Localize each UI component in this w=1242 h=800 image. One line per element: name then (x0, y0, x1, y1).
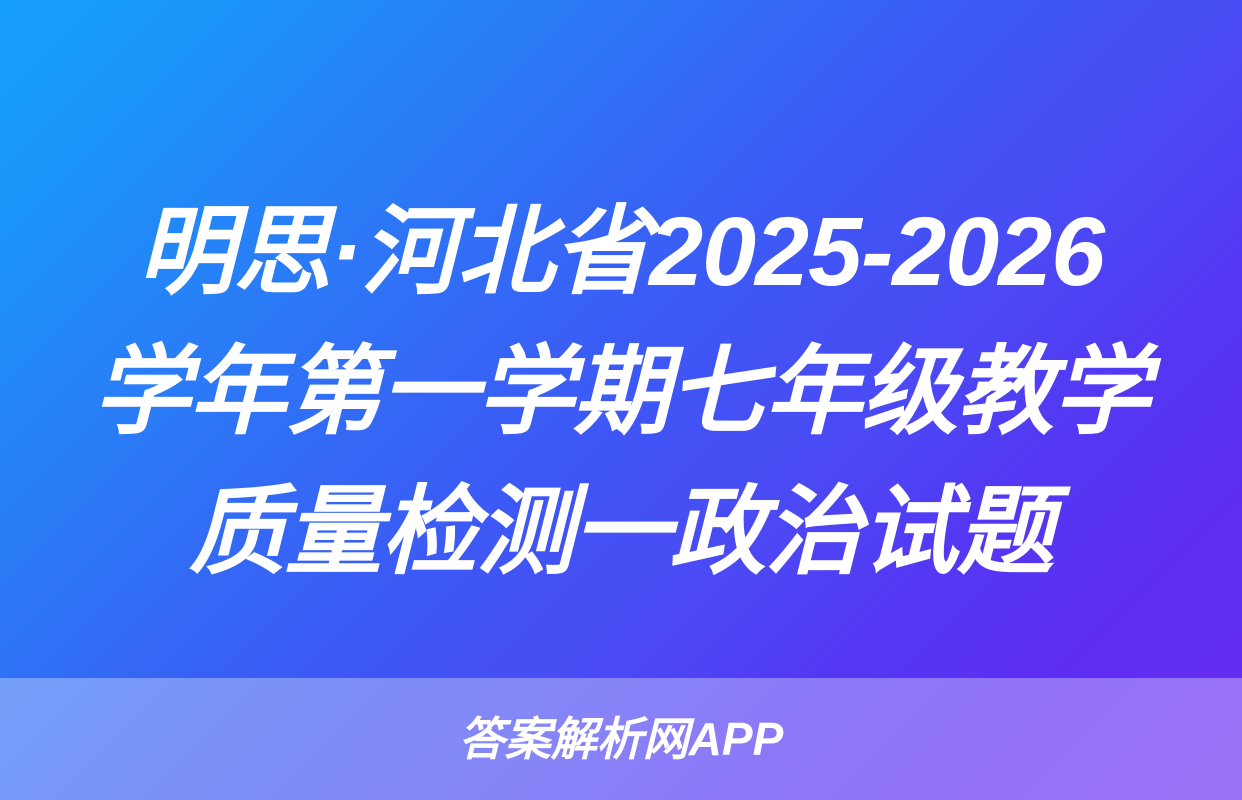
page-title: 明思·河北省2025-2026 学年第一学期七年级教学 质量检测一政治试题 (0, 182, 1242, 602)
footer-banner: 答案解析网APP (0, 678, 1242, 800)
title-line-2: 学年第一学期七年级教学 (40, 322, 1202, 462)
app-watermark-label: 答案解析网APP (459, 716, 784, 762)
title-line-1: 明思·河北省2025-2026 (40, 182, 1202, 322)
title-line-3: 质量检测一政治试题 (40, 462, 1202, 602)
exam-cover-page: 明思·河北省2025-2026 学年第一学期七年级教学 质量检测一政治试题 答案… (0, 0, 1242, 800)
